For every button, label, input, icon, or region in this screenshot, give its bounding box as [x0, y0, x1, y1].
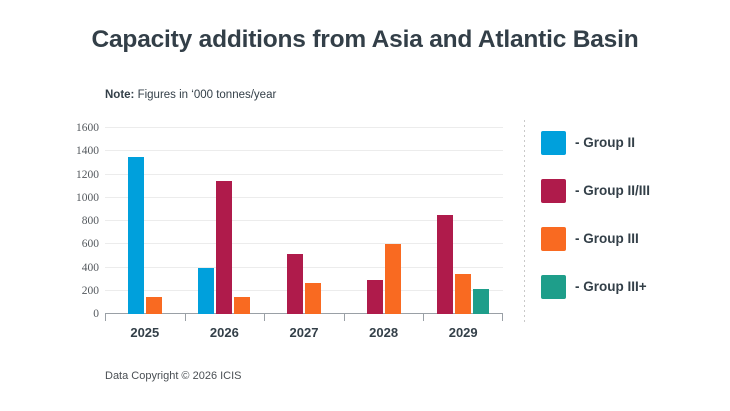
x-axis-tick-labels: 20252026202720282029	[105, 325, 503, 345]
bar	[128, 157, 144, 314]
chart-page: Capacity additions from Asia and Atlanti…	[0, 0, 730, 411]
x-axis-tick-label: 2029	[449, 325, 478, 340]
bar	[287, 254, 303, 314]
chart-legend: - Group II- Group II/III- Group III- Gro…	[541, 131, 726, 323]
x-axis-tick	[502, 314, 503, 321]
legend-item-label: - Group III+	[575, 279, 647, 294]
bar	[198, 268, 214, 315]
legend-swatch-group-ii-iii	[541, 179, 566, 203]
legend-swatch-group-iii	[541, 227, 566, 251]
bar	[473, 289, 489, 314]
y-axis-tick-label: 400	[57, 262, 99, 274]
y-axis-tick-label: 0	[57, 308, 99, 320]
x-axis-tick-label: 2027	[290, 325, 319, 340]
legend-item[interactable]: - Group III	[541, 227, 726, 275]
x-axis-ticks	[105, 314, 503, 321]
y-axis-tick-label: 1400	[57, 145, 99, 157]
y-axis-tick-label: 800	[57, 215, 99, 227]
bar	[146, 297, 162, 314]
bar	[305, 283, 321, 314]
x-axis-tick	[264, 314, 265, 321]
legend-item-label: - Group II/III	[575, 183, 650, 198]
x-axis-tick	[105, 314, 106, 321]
legend-item-label: - Group II	[575, 135, 635, 150]
y-axis-tick-label: 600	[57, 238, 99, 250]
bar	[234, 297, 250, 314]
bar	[455, 274, 471, 314]
bars-layer	[105, 128, 503, 314]
x-axis-tick	[344, 314, 345, 321]
y-axis-tick-label: 1200	[57, 169, 99, 181]
bar	[367, 280, 383, 314]
x-axis-tick-label: 2028	[369, 325, 398, 340]
legend-swatch-group-iii-plus	[541, 275, 566, 299]
bar	[216, 181, 232, 314]
x-axis-tick	[423, 314, 424, 321]
legend-item-label: - Group III	[575, 231, 639, 246]
bar	[437, 215, 453, 314]
legend-item[interactable]: - Group II/III	[541, 179, 726, 227]
y-axis-tick-label: 1000	[57, 192, 99, 204]
y-axis-tick-label: 200	[57, 285, 99, 297]
bar	[385, 244, 401, 314]
x-axis-tick	[185, 314, 186, 321]
y-axis-tick-labels: 02004006008001000120014001600	[55, 128, 99, 314]
legend-swatch-group-ii	[541, 131, 566, 155]
legend-item[interactable]: - Group III+	[541, 275, 726, 323]
x-axis-tick-label: 2026	[210, 325, 239, 340]
x-axis-tick-label: 2025	[130, 325, 159, 340]
y-axis-tick-label: 1600	[57, 122, 99, 134]
legend-divider	[524, 120, 525, 324]
copyright-text: Data Copyright © 2026 ICIS	[105, 370, 242, 382]
legend-item[interactable]: - Group II	[541, 131, 726, 179]
